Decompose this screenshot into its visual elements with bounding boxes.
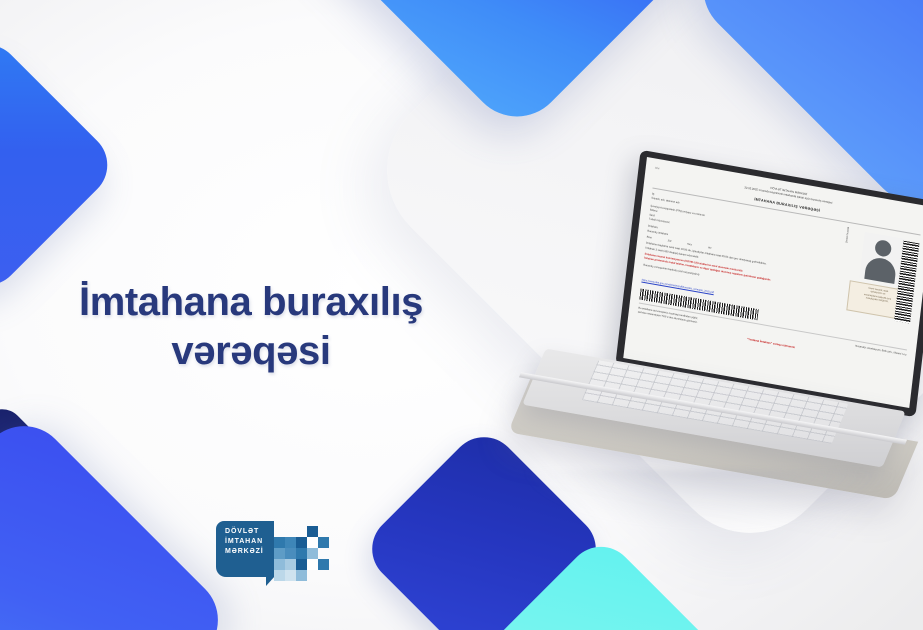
doc-col-sira: Sıra bbox=[687, 243, 692, 247]
doc-corner-code: DİM bbox=[655, 167, 660, 171]
logo-line-2: İMTAHAN bbox=[225, 537, 264, 547]
pixel-mosaic-icon bbox=[274, 515, 336, 585]
page-title-line2: vərəqəsi bbox=[36, 327, 466, 376]
page-title-line1: İmtahana buraxılış bbox=[79, 280, 423, 324]
dim-logo: DÖVLƏT İMTAHAN MƏRKƏZİ bbox=[216, 515, 336, 585]
decor-diamond-bottom-left bbox=[0, 408, 236, 630]
logo-text: DÖVLƏT İMTAHAN MƏRKƏZİ bbox=[225, 527, 264, 557]
doc-col-bina: Bina bbox=[647, 236, 652, 240]
laptop-base bbox=[516, 372, 923, 458]
doc-col-yer: Yer bbox=[708, 246, 712, 250]
page-title: İmtahana buraxılış vərəqəsi bbox=[36, 278, 466, 376]
laptop-shadow bbox=[520, 470, 900, 530]
doc-photo-block: Şəxsin fotoşəkli Üzərə nəzarət, əsəb işt… bbox=[842, 230, 920, 328]
decor-diamond-top-left bbox=[0, 31, 121, 300]
logo-line-3: MƏRKƏZİ bbox=[225, 547, 264, 557]
logo-line-1: DÖVLƏT bbox=[225, 527, 264, 537]
doc-col-zal: Zal bbox=[668, 239, 672, 243]
poster-canvas: İmtahana buraxılış vərəqəsi DÖVLƏT İMTAH… bbox=[0, 0, 923, 630]
person-avatar-icon bbox=[859, 232, 904, 285]
avatar-head bbox=[874, 239, 892, 258]
avatar-body bbox=[864, 256, 897, 285]
laptop-mockup: DİM DÖVLƏT İMTAHAN MƏRKƏZİ 22.05.2025-ci… bbox=[516, 176, 923, 506]
